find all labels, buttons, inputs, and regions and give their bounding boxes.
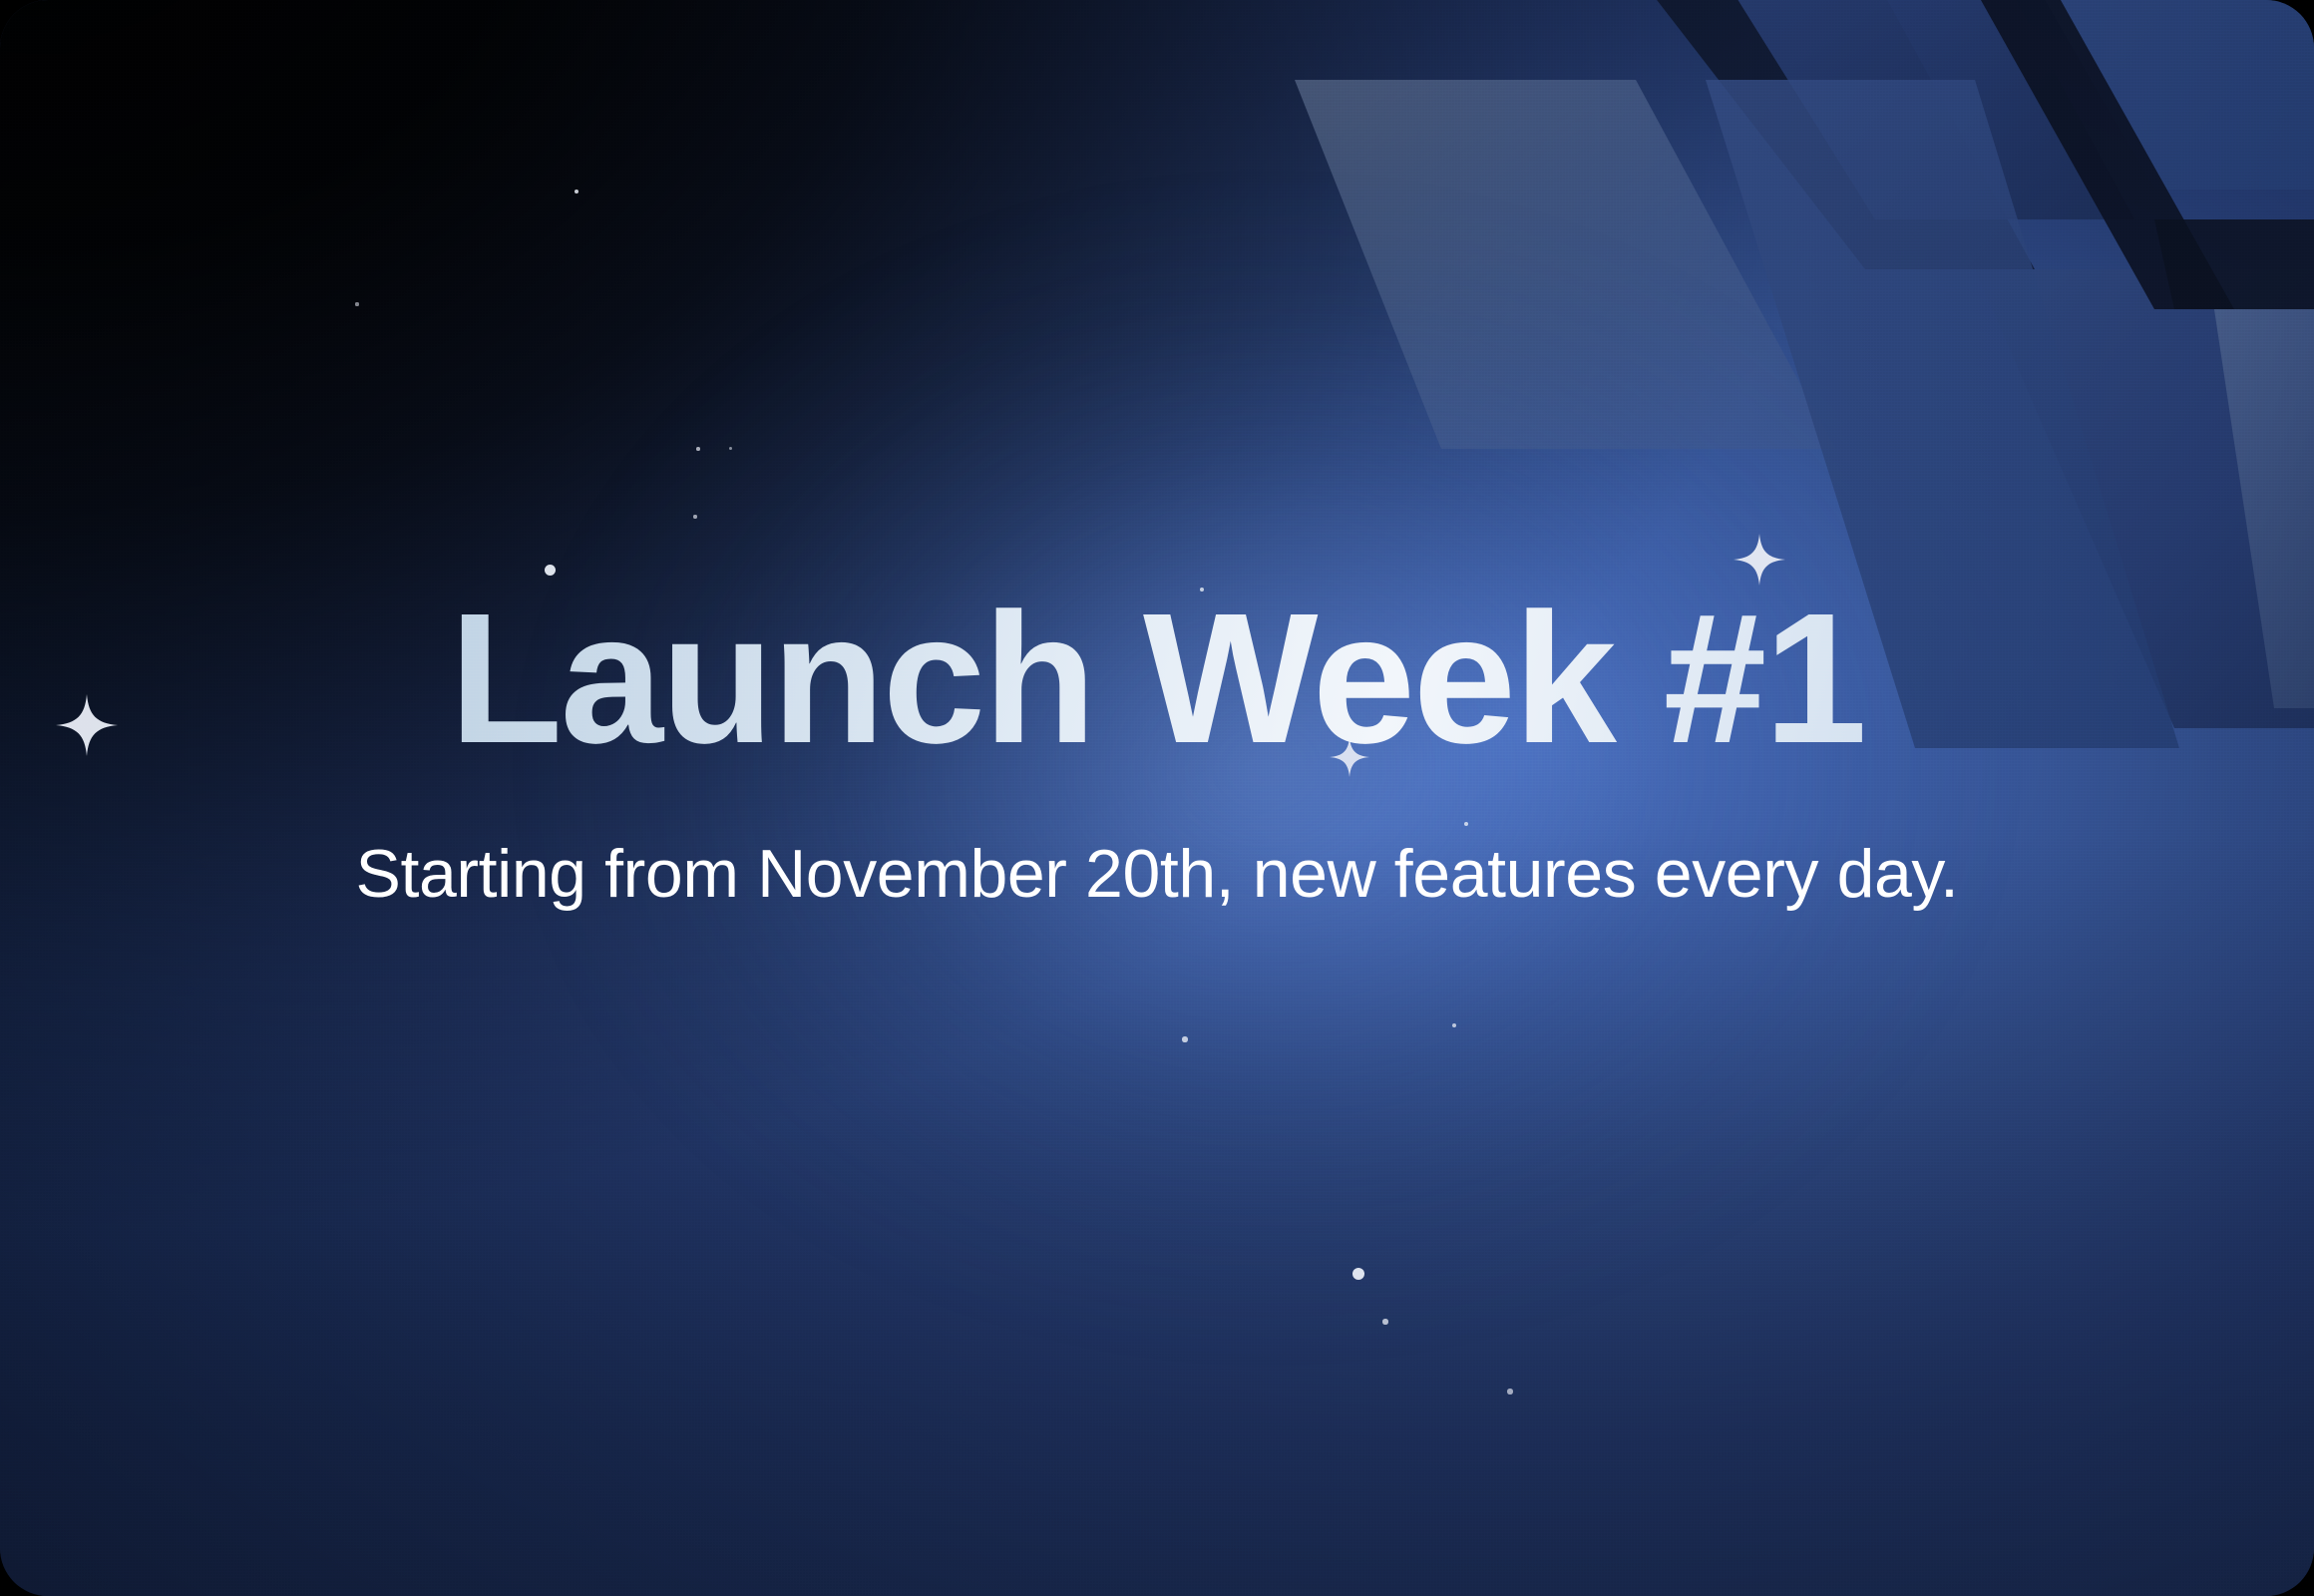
film-grain-overlay (0, 0, 2314, 1596)
launch-week-hero-banner: Launch Week #1 Starting from November 20… (0, 0, 2314, 1596)
